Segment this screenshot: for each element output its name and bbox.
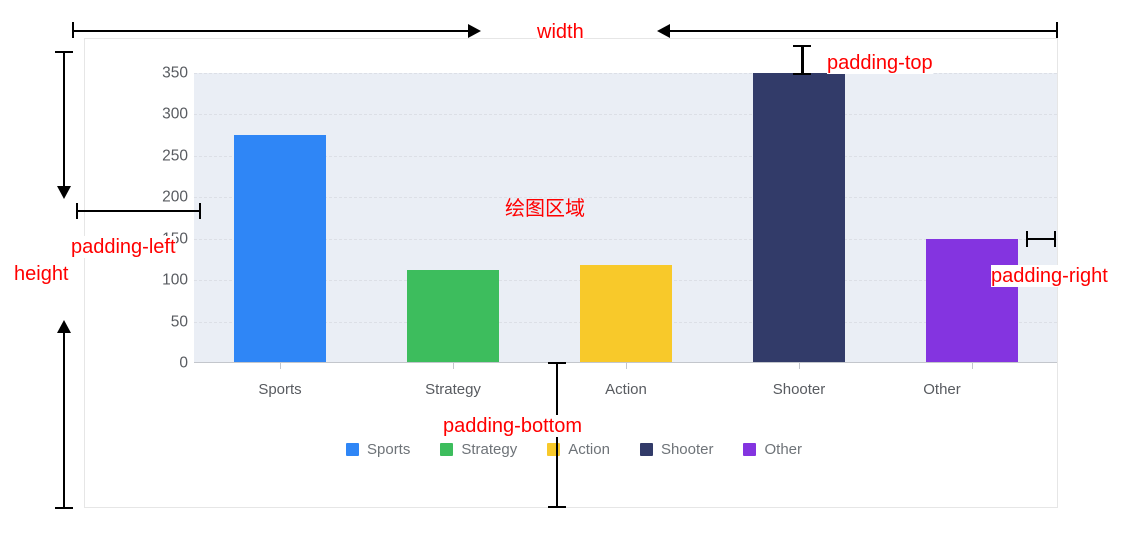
bar-action[interactable] xyxy=(580,265,672,363)
x-tick-shooter xyxy=(799,362,800,369)
width-rule-right xyxy=(668,30,1058,32)
width-arrow-left xyxy=(468,24,481,38)
annotation-padding-top: padding-top xyxy=(827,52,933,74)
x-label-strategy: Strategy xyxy=(425,381,481,398)
height-cap-bottom xyxy=(55,507,73,509)
annotation-padding-bottom: padding-bottom xyxy=(443,415,582,437)
width-rule-left xyxy=(72,30,472,32)
legend-item-sports[interactable]: Sports xyxy=(346,441,410,458)
annotation-padding-left: padding-left xyxy=(71,236,176,258)
legend-label: Shooter xyxy=(661,441,714,458)
legend-swatch-icon xyxy=(346,443,359,456)
padding-bottom-cap-bottom xyxy=(548,506,566,508)
annotation-height: height xyxy=(14,263,69,285)
legend-label: Other xyxy=(764,441,802,458)
padding-right-rule xyxy=(1026,238,1056,240)
annotation-width: width xyxy=(537,21,584,43)
height-rule-bottom xyxy=(63,333,65,507)
legend-swatch-icon xyxy=(440,443,453,456)
y-tick-350: 350 xyxy=(142,65,188,81)
legend-label: Action xyxy=(568,441,610,458)
legend-label: Strategy xyxy=(461,441,517,458)
y-tick-100: 100 xyxy=(142,272,188,288)
x-label-action: Action xyxy=(605,381,647,398)
y-tick-200: 200 xyxy=(142,190,188,206)
gridline-300 xyxy=(194,114,1057,115)
x-tick-sports xyxy=(280,362,281,369)
x-label-shooter: Shooter xyxy=(773,381,826,398)
bar-strategy[interactable] xyxy=(407,270,499,363)
x-label-other: Other xyxy=(923,381,961,398)
y-tick-50: 50 xyxy=(142,314,188,330)
padding-left-cap-right xyxy=(199,203,201,219)
x-tick-other xyxy=(972,362,973,369)
height-rule-top xyxy=(63,51,65,186)
annotation-padding-right: padding-right xyxy=(991,265,1108,287)
bar-other[interactable] xyxy=(926,239,1018,363)
legend-swatch-icon xyxy=(547,443,560,456)
legend-item-strategy[interactable]: Strategy xyxy=(440,441,517,458)
padding-left-rule xyxy=(76,210,201,212)
height-arrow-top xyxy=(57,186,71,199)
x-tick-action xyxy=(626,362,627,369)
legend-swatch-icon xyxy=(743,443,756,456)
chart-annotation-diagram: 350 300 250 200 150 100 50 0 Sports Stra… xyxy=(0,0,1148,542)
legend-item-shooter[interactable]: Shooter xyxy=(640,441,714,458)
legend-label: Sports xyxy=(367,441,410,458)
x-label-sports: Sports xyxy=(258,381,301,398)
shooter-errorbar-stem xyxy=(801,45,804,74)
y-axis-labels: 350 300 250 200 150 100 50 0 xyxy=(130,0,188,542)
chart-legend: Sports Strategy Action Shooter Other xyxy=(0,441,1148,458)
x-tick-strategy xyxy=(453,362,454,369)
bar-shooter[interactable] xyxy=(753,73,845,363)
legend-item-other[interactable]: Other xyxy=(743,441,802,458)
y-tick-250: 250 xyxy=(142,148,188,164)
bar-sports[interactable] xyxy=(234,135,326,363)
padding-right-cap-right xyxy=(1054,231,1056,247)
y-tick-300: 300 xyxy=(142,107,188,123)
y-tick-0: 0 xyxy=(142,355,188,371)
legend-swatch-icon xyxy=(640,443,653,456)
width-cap-right xyxy=(1056,22,1058,38)
plot-area-background xyxy=(194,73,1057,363)
height-arrow-bottom xyxy=(57,320,71,333)
annotation-plot-area: 绘图区域 xyxy=(505,197,585,219)
